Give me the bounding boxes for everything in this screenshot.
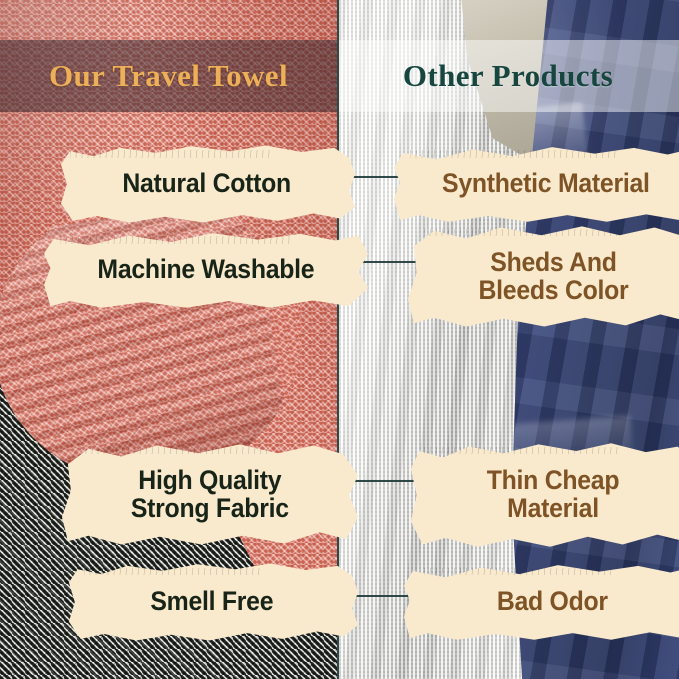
- right-column-title: Other Products: [403, 58, 613, 94]
- left-column-title: Our Travel Towel: [49, 58, 288, 94]
- feature-label-high-quality-strong-fabric: High Quality Strong Fabric: [62, 440, 358, 550]
- drawback-label-text: Sheds And Bleeds Color: [478, 249, 628, 304]
- comparison-infographic: Our Travel Towel Other Products Natural …: [0, 0, 679, 679]
- header-band: Our Travel Towel Other Products: [0, 40, 679, 112]
- feature-label-text: High Quality Strong Fabric: [131, 467, 289, 522]
- drawback-label-sheds-and-bleeds-color: Sheds And Bleeds Color: [408, 222, 679, 332]
- right-header-band: Other Products: [337, 40, 679, 112]
- drawback-label-text: Synthetic Material: [442, 170, 650, 198]
- drawback-label-thin-cheap-material: Thin Cheap Material: [408, 440, 679, 550]
- drawback-label-text: Bad Odor: [497, 588, 608, 616]
- left-header-band: Our Travel Towel: [0, 40, 337, 112]
- drawback-label-text: Thin Cheap Material: [487, 467, 619, 522]
- feature-label-text: Smell Free: [151, 588, 274, 616]
- feature-label-text: Natural Cotton: [122, 170, 291, 198]
- feature-label-text: Machine Washable: [98, 256, 315, 284]
- feature-label-natural-cotton: Natural Cotton: [58, 143, 355, 225]
- feature-label-smell-free: Smell Free: [66, 561, 358, 643]
